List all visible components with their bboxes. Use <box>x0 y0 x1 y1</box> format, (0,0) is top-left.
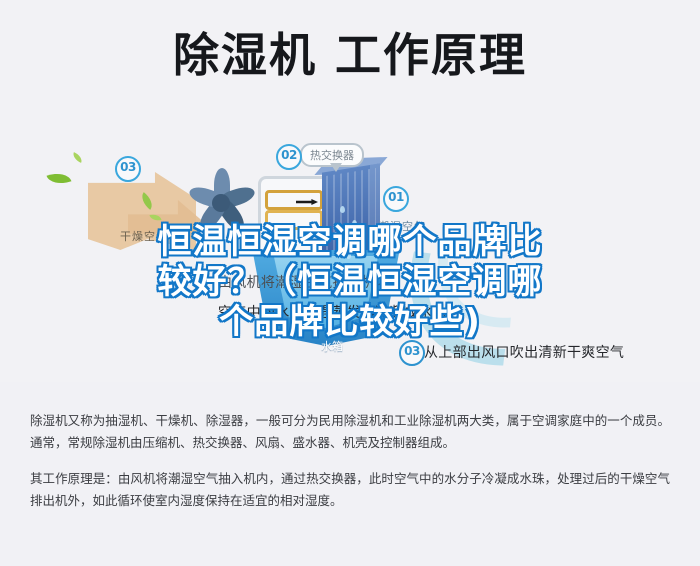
step-badge-03: 03 <box>115 156 141 182</box>
fan-hub <box>212 194 230 212</box>
step-badge-02: 02 <box>276 144 302 170</box>
water-droplet-icon <box>340 206 345 213</box>
callout-tail-icon <box>330 163 342 172</box>
overlay-line-1: 恒温恒湿空调哪个品牌比 <box>0 222 700 262</box>
overlay-watermark-text: 恒温恒湿空调哪个品牌比 较好？（恒温恒湿空调哪 个品牌比较好些) <box>0 222 700 342</box>
infographic-hero: 除湿机 工作原理 干燥空气 水箱 热交换器 潮湿空气 03 02 01 03 <box>0 0 700 382</box>
page-title: 除湿机 工作原理 <box>0 30 700 81</box>
leaf-icon <box>47 169 72 188</box>
article-paragraph-2: 其工作原理是：由风机将潮湿空气抽入机内，通过热交换器，此时空气中的水分子冷凝成水… <box>30 468 670 512</box>
step-badge-03-caption: 03 <box>399 340 425 366</box>
overlay-line-2: 较好？（恒温恒湿空调哪 <box>0 262 700 302</box>
step-caption-3: 从上部出风口吹出清新干爽空气 <box>424 342 624 362</box>
step-badge-01: 01 <box>383 186 409 212</box>
coil-pipe-icon <box>265 190 323 210</box>
article-body: 除湿机又称为抽湿机、干燥机、除湿器，一般可分为民用除湿机和工业除湿机两大类，属于… <box>0 382 700 566</box>
leaf-icon <box>71 152 84 163</box>
article-paragraph-1: 除湿机又称为抽湿机、干燥机、除湿器，一般可分为民用除湿机和工业除湿机两大类，属于… <box>30 410 670 454</box>
overlay-line-3: 个品牌比较好些) <box>0 302 700 342</box>
